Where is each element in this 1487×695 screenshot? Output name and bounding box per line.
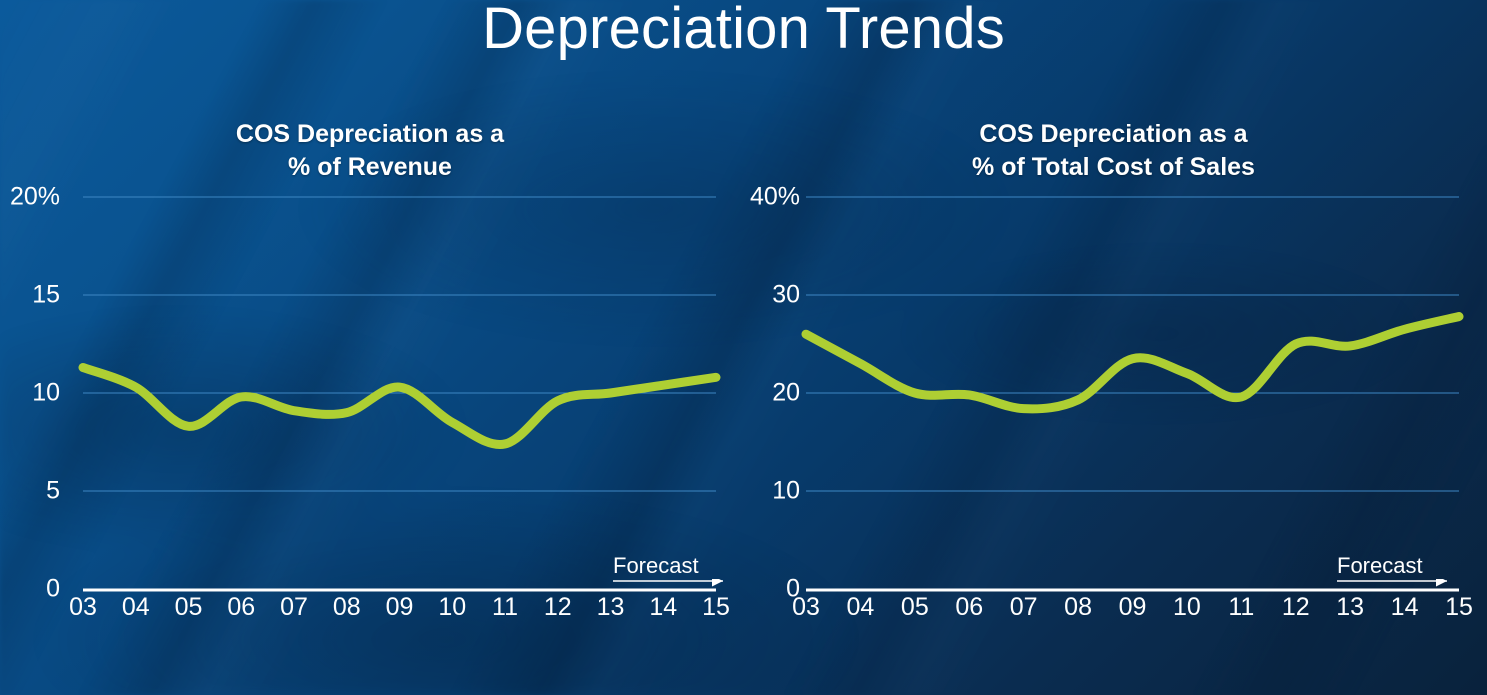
slide-canvas: Depreciation Trends COS Depreciation as … [0,0,1487,695]
series-line-right [806,197,1459,589]
x-axis-labels-right: 03040506070809101112131415 [806,593,1459,627]
forecast-label-right: Forecast [1337,554,1487,577]
y-tick-label: 30 [772,281,800,310]
x-tick-label: 10 [438,593,466,622]
x-tick-label: 08 [1064,593,1092,622]
x-tick-label: 05 [901,593,929,622]
y-tick-label: 0 [46,575,60,604]
x-tick-label: 05 [175,593,203,622]
chart-cos-depreciation-pct-revenue: COS Depreciation as a % of Revenue 05101… [0,118,740,589]
x-tick-label: 15 [1445,593,1473,622]
x-tick-label: 11 [492,593,518,622]
y-tick-label: 5 [46,477,60,506]
chart-title-left-line1: COS Depreciation as a [236,120,504,148]
x-tick-label: 04 [847,593,875,622]
y-tick-label: 15 [32,281,60,310]
x-tick-label: 07 [1010,593,1038,622]
forecast-annotation-right: Forecast [1337,554,1487,594]
x-tick-label: 11 [1228,593,1254,622]
plot-area-left [83,197,716,589]
chart-title-left-line2: % of Revenue [288,153,452,181]
y-tick-label: 10 [772,477,800,506]
x-tick-label: 04 [122,593,150,622]
x-tick-label: 15 [702,593,730,622]
plot-wrap-right: 010203040% 03040506070809101112131415 [740,197,1487,589]
chart-cos-depreciation-pct-total-cost-of-sales: COS Depreciation as a % of Total Cost of… [740,118,1487,589]
x-axis-labels-left: 03040506070809101112131415 [83,593,716,627]
x-tick-label: 03 [69,593,97,622]
x-tick-label: 08 [333,593,361,622]
chart-title-left: COS Depreciation as a % of Revenue [0,118,740,183]
y-tick-label: 20 [772,379,800,408]
x-tick-label: 07 [280,593,308,622]
x-tick-label: 10 [1173,593,1201,622]
x-tick-label: 09 [1119,593,1147,622]
x-tick-label: 12 [544,593,572,622]
x-tick-label: 14 [649,593,677,622]
y-axis-labels-left: 05101520% [0,197,66,589]
x-tick-label: 13 [1336,593,1364,622]
y-tick-label: 20% [10,183,60,212]
chart-title-right: COS Depreciation as a % of Total Cost of… [740,118,1487,183]
plot-area-right [806,197,1459,589]
x-tick-label: 06 [227,593,255,622]
page-title: Depreciation Trends [0,0,1487,63]
x-tick-label: 06 [955,593,983,622]
forecast-arrow-icon-right [1337,579,1461,593]
plot-wrap-left: 05101520% 03040506070809101112131415 [0,197,740,589]
series-line-left [83,197,716,589]
x-tick-label: 12 [1282,593,1310,622]
chart-title-right-line2: % of Total Cost of Sales [972,153,1255,181]
y-axis-labels-right: 010203040% [740,197,806,589]
x-tick-label: 13 [597,593,625,622]
y-tick-label: 40% [750,183,800,212]
x-tick-label: 03 [792,593,820,622]
chart-title-right-line1: COS Depreciation as a [979,120,1247,148]
forecast-arrow-icon-left [613,579,737,593]
series-path [83,368,716,445]
x-tick-label: 14 [1391,593,1419,622]
series-path [806,317,1459,409]
x-tick-label: 09 [386,593,414,622]
y-tick-label: 10 [32,379,60,408]
